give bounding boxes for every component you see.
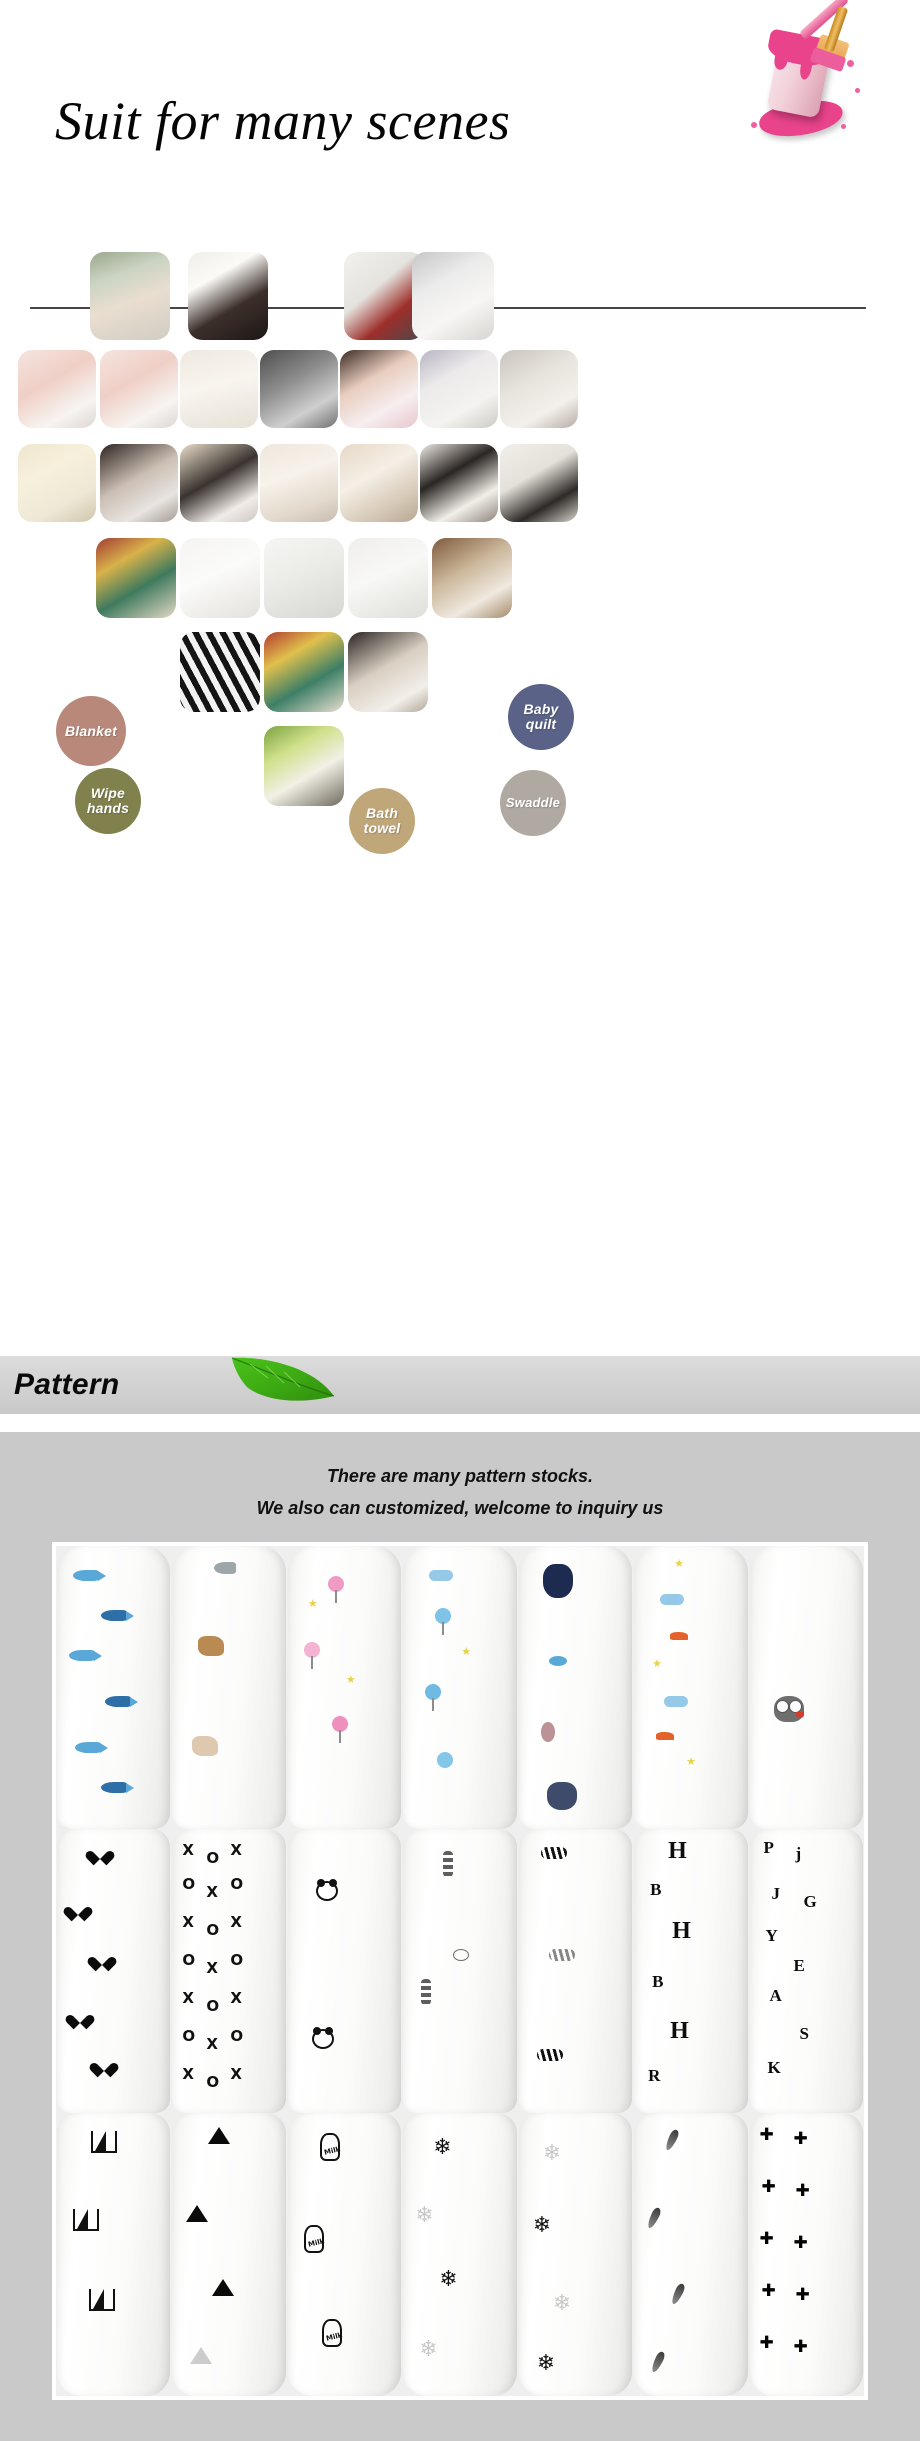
pattern-roll-letter-h: H B H B H R bbox=[634, 1829, 747, 2112]
scenes-section: Suit for many scenes bbox=[0, 0, 920, 1340]
pattern-roll-panda bbox=[288, 1829, 401, 2112]
pattern-roll-triangles bbox=[172, 2113, 285, 2396]
scene-tile bbox=[432, 538, 512, 618]
scene-tile bbox=[180, 444, 258, 522]
scene-tile bbox=[264, 538, 344, 618]
badge-swaddle[interactable]: Swaddle bbox=[500, 770, 566, 836]
pattern-roll-feathers bbox=[634, 2113, 747, 2396]
green-leaf-icon bbox=[228, 1352, 338, 1412]
badge-label: Blanket bbox=[65, 724, 117, 739]
pattern-headline: There are many pattern stocks. We also c… bbox=[0, 1460, 920, 1524]
pattern-roll-giraffe bbox=[403, 1829, 516, 2112]
pattern-headline-line2: We also can customized, welcome to inqui… bbox=[0, 1492, 920, 1524]
scene-tile bbox=[188, 252, 268, 340]
pattern-headline-line1: There are many pattern stocks. bbox=[0, 1460, 920, 1492]
scene-tile bbox=[18, 350, 96, 428]
pattern-roll-milk: Milk Milk Milk bbox=[288, 2113, 401, 2396]
pattern-roll-blue-clouds: ★ bbox=[403, 1546, 516, 1829]
page-title: Suit for many scenes bbox=[55, 90, 510, 152]
scene-tile bbox=[260, 444, 338, 522]
scene-tile bbox=[348, 632, 428, 712]
pattern-roll-alphabet: P j J G Y E A S K bbox=[750, 1829, 863, 2112]
scene-tile bbox=[264, 632, 344, 712]
scene-tile bbox=[100, 444, 178, 522]
scene-tile bbox=[340, 444, 418, 522]
badge-baby-quilt[interactable]: Babyquilt bbox=[508, 684, 574, 750]
pattern-roll-owl bbox=[750, 1546, 863, 1829]
badge-label: Wipehands bbox=[87, 786, 129, 815]
pattern-row: ★ ★ ★ bbox=[56, 1546, 864, 1829]
scene-tile bbox=[500, 350, 578, 428]
badge-label: Swaddle bbox=[506, 796, 560, 810]
scene-tile bbox=[420, 444, 498, 522]
pattern-roll-navy-leaf bbox=[519, 1546, 632, 1829]
scene-tile bbox=[100, 350, 178, 428]
scene-tile bbox=[340, 350, 418, 428]
pattern-photo: ★ ★ ★ bbox=[52, 1542, 868, 2400]
badge-wipe-hands[interactable]: Wipehands bbox=[75, 768, 141, 834]
scene-tile bbox=[180, 538, 260, 618]
badge-label: Babyquilt bbox=[523, 702, 558, 731]
pattern-roll-teepee bbox=[57, 2113, 170, 2396]
scene-tile bbox=[264, 726, 344, 806]
scene-tile bbox=[18, 444, 96, 522]
pattern-roll-deer bbox=[172, 1546, 285, 1829]
scene-tile bbox=[500, 444, 578, 522]
pattern-row: Milk Milk Milk ❄ ❄ ❄ ❄ ❄ ❄ ❄ ❄ bbox=[56, 2113, 864, 2396]
badge-blanket[interactable]: Blanket bbox=[56, 696, 126, 766]
pattern-roll-blue-fish bbox=[57, 1546, 170, 1829]
pattern-row: XOX OXO XOX OXO XOX OXO XOX bbox=[56, 1829, 864, 2112]
scene-tile bbox=[96, 538, 176, 618]
pattern-section: There are many pattern stocks. We also c… bbox=[0, 1432, 920, 2441]
pattern-roll-stars-dinos: ★ ★ ★ bbox=[634, 1546, 747, 1829]
pattern-banner: Pattern bbox=[0, 1356, 920, 1414]
pattern-roll-snowflakes-faint: ❄ ❄ ❄ ❄ bbox=[519, 2113, 632, 2396]
scene-tile bbox=[180, 350, 258, 428]
paint-bucket-brush-icon bbox=[735, 4, 885, 149]
pattern-roll-crosses: ✚✚ ✚✚ ✚✚ ✚✚ ✚✚ bbox=[750, 2113, 863, 2396]
scene-tile bbox=[420, 350, 498, 428]
pattern-roll-snowflakes: ❄ ❄ ❄ ❄ bbox=[403, 2113, 516, 2396]
scene-tile bbox=[180, 632, 260, 712]
pattern-roll-xo: XOX OXO XOX OXO XOX OXO XOX bbox=[172, 1829, 285, 2112]
scene-tile bbox=[412, 252, 494, 340]
badge-bath-towel[interactable]: Bathtowel bbox=[349, 788, 415, 854]
pattern-roll-zebra bbox=[519, 1829, 632, 2112]
scene-tile bbox=[260, 350, 338, 428]
pattern-roll-pink-trees: ★ ★ bbox=[288, 1546, 401, 1829]
pattern-roll-hearts bbox=[57, 1829, 170, 2112]
badge-label: Bathtowel bbox=[364, 806, 401, 835]
pattern-banner-label: Pattern bbox=[14, 1368, 119, 1402]
scene-tile bbox=[348, 538, 428, 618]
scene-tile bbox=[90, 252, 170, 340]
